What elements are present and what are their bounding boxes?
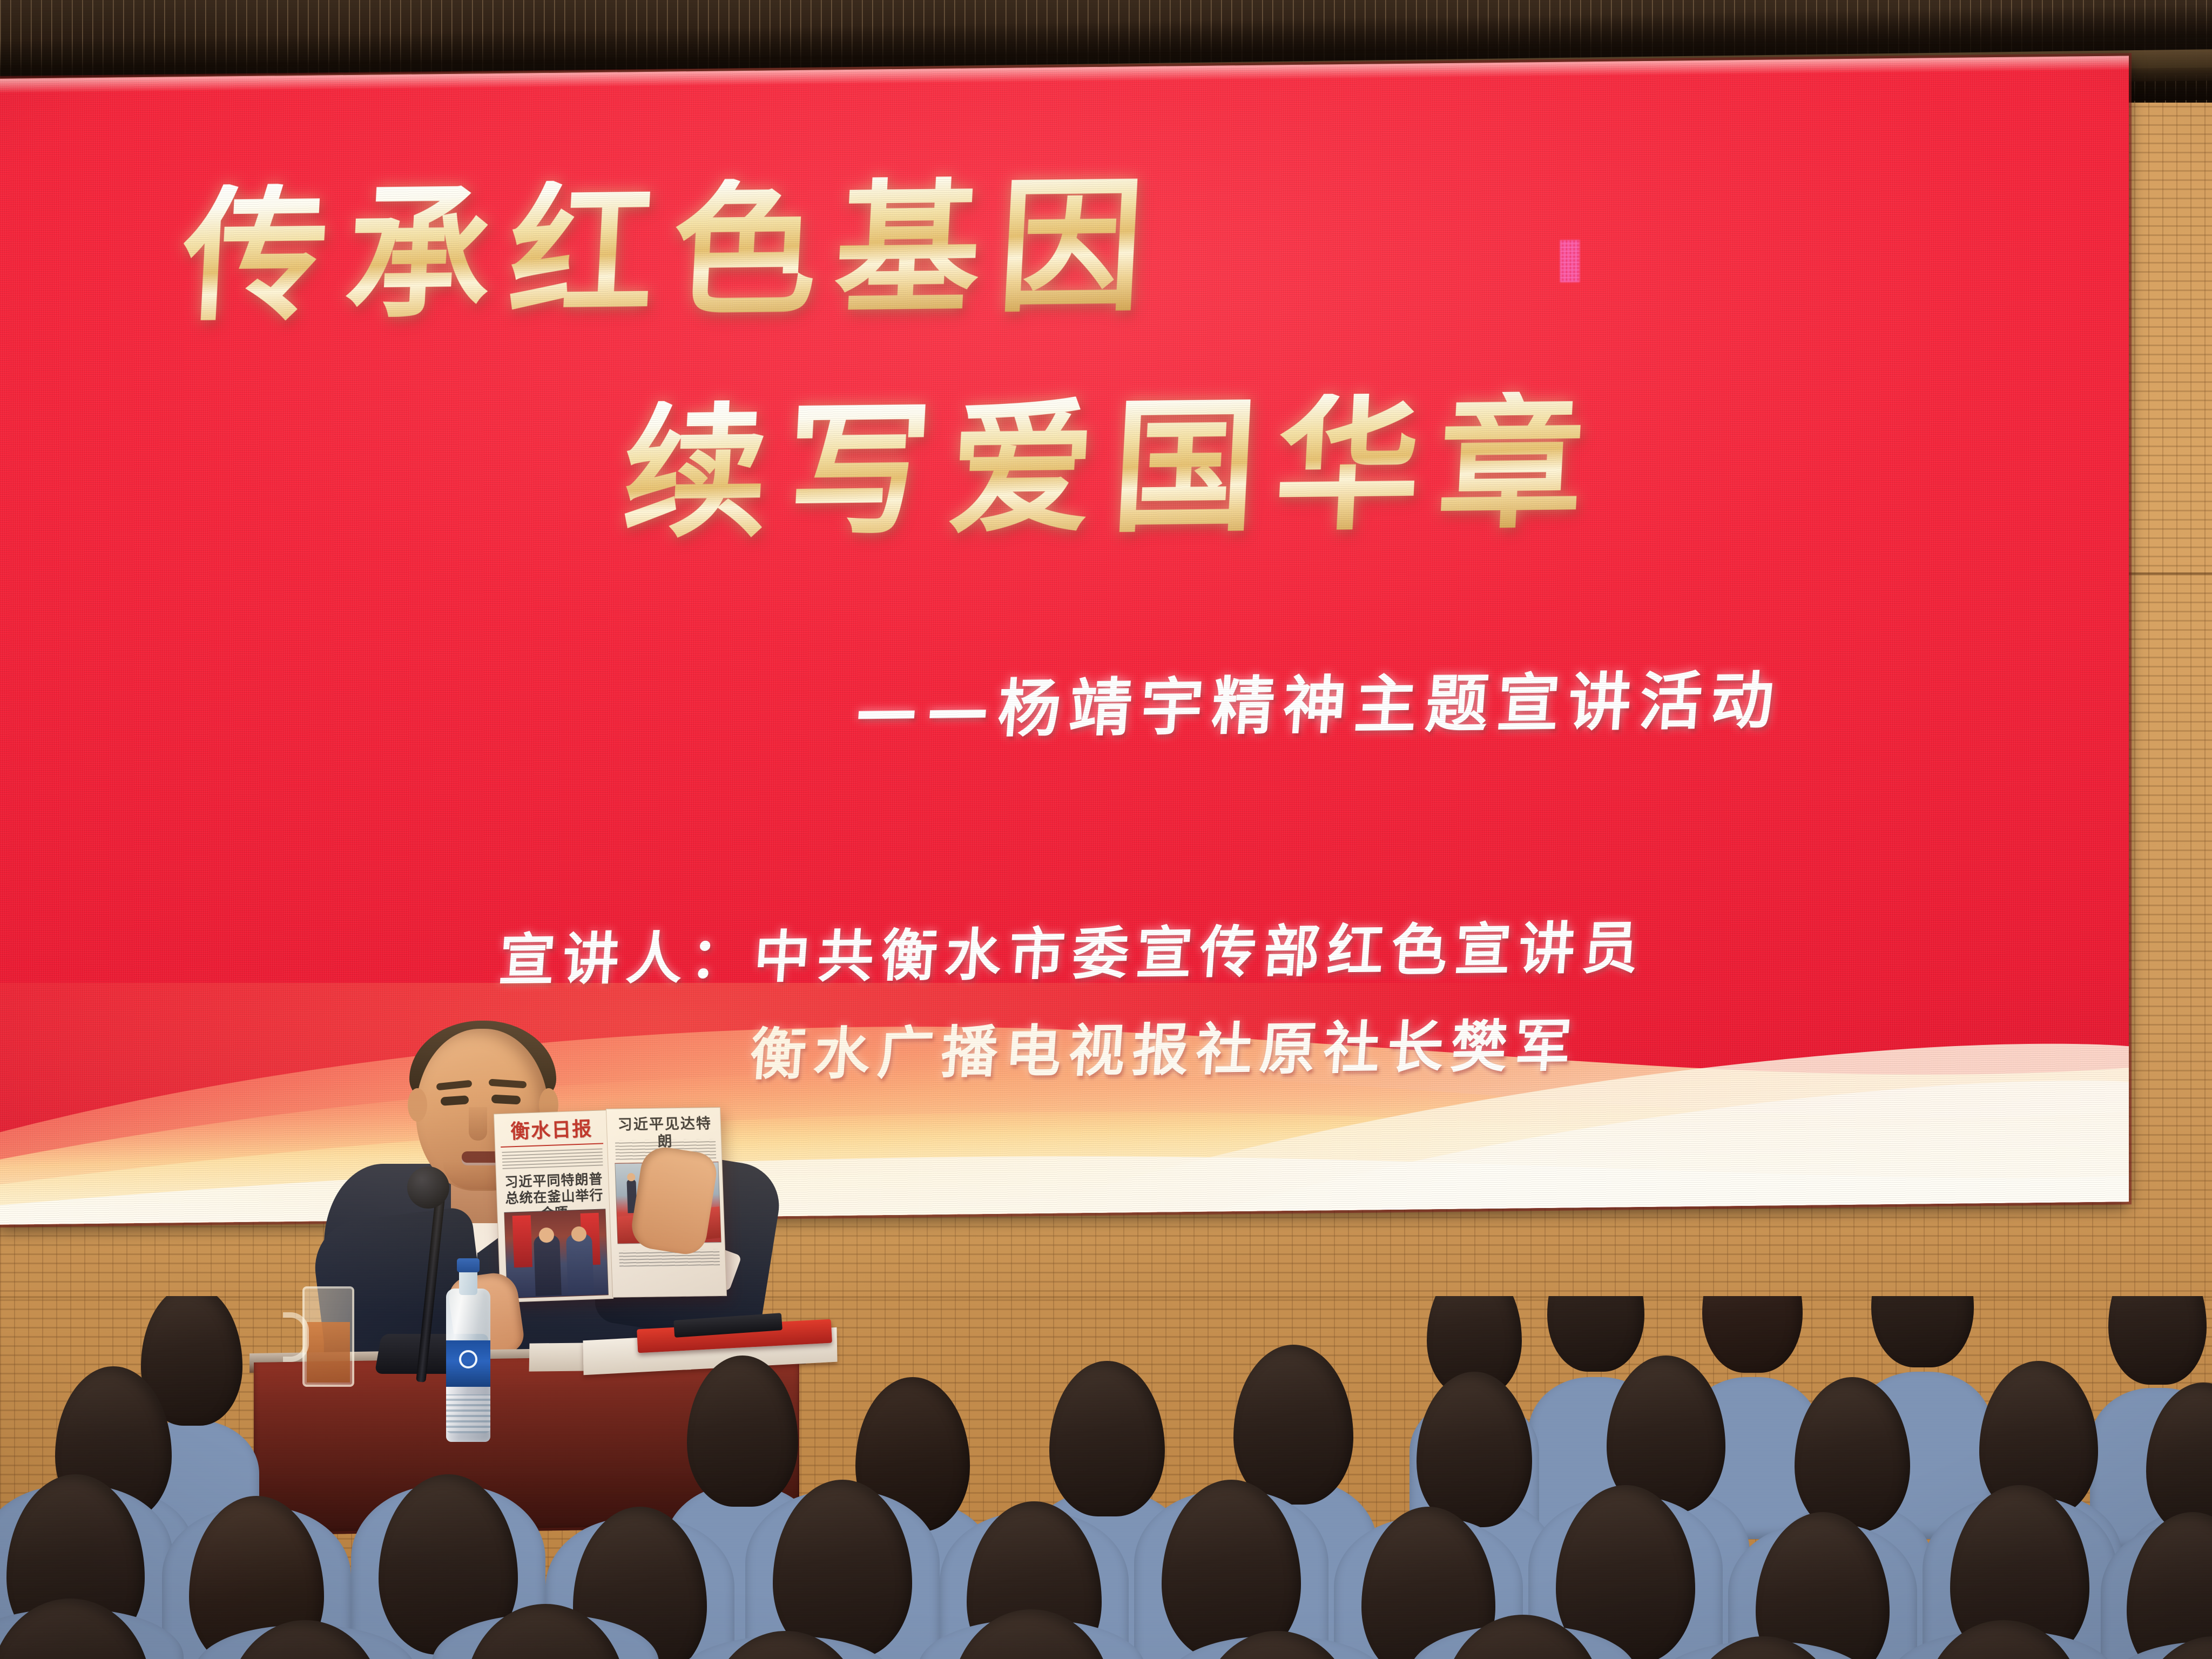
- speaker-ear-left: [408, 1088, 427, 1122]
- audience-head: [0, 1599, 151, 1659]
- slide-title-line-2: 续写爱国华章: [619, 391, 1606, 547]
- audience-member: [1166, 1631, 1388, 1659]
- speaker-eye-right: [491, 1095, 521, 1105]
- audience-head: [1417, 1372, 1532, 1527]
- slide-text-layer: 传承红色基因 续写爱国华章 ——杨靖宇精神主题宣讲活动 宣讲人：中共衡水市委宣传…: [0, 56, 2129, 1225]
- newspaper-photo-left: [504, 1209, 608, 1298]
- slide-presenter-line-1: 宣讲人：中共衡水市委宣传部红色宣讲员: [497, 920, 1648, 988]
- audience-member: [1653, 1636, 1874, 1659]
- audience-member: [918, 1609, 1145, 1659]
- audience-head: [2108, 1296, 2207, 1385]
- photo-person-head: [627, 1173, 636, 1181]
- audience-member: [675, 1631, 896, 1659]
- newspaper-page-left: 衡水日报 习近平同特朗普总统在釜山举行会晤: [494, 1110, 613, 1303]
- audience-member: [1410, 1615, 1636, 1659]
- audience-member: [194, 1620, 416, 1659]
- photo-figure-1: [534, 1235, 562, 1296]
- audience-head: [1795, 1377, 1910, 1532]
- led-display-screen: 传承红色基因 续写爱国华章 ——杨靖宇精神主题宣讲活动 宣讲人：中共衡水市委宣传…: [0, 56, 2129, 1225]
- microphone-head-icon: [407, 1166, 449, 1209]
- audience-member: [0, 1599, 184, 1659]
- audience-area: [0, 1296, 2212, 1659]
- audience-member: [2106, 1636, 2212, 1659]
- audience-member: [432, 1604, 659, 1659]
- newspaper-micro-text: [502, 1147, 603, 1169]
- slide-title-line-1: 传承红色基因: [179, 174, 1165, 330]
- slide-subtitle: ——杨靖宇精神主题宣讲活动: [853, 670, 1784, 743]
- audience-member: [1890, 1620, 2117, 1659]
- speaker-nose: [469, 1107, 487, 1141]
- screenshot-root: 传承红色基因 续写爱国华章 ——杨靖宇精神主题宣讲活动 宣讲人：中共衡水市委宣传…: [0, 0, 2212, 1659]
- audience-head: [1871, 1296, 1974, 1367]
- photo-figure-2: [566, 1233, 594, 1295]
- flag-left-icon: [512, 1215, 532, 1267]
- audience-head: [464, 1604, 626, 1659]
- slide-presenter-line-2: 衡水广播电视报社原社长樊军: [748, 1017, 1580, 1083]
- newspaper-masthead: 衡水日报: [501, 1117, 602, 1144]
- bottle-cap: [457, 1258, 480, 1272]
